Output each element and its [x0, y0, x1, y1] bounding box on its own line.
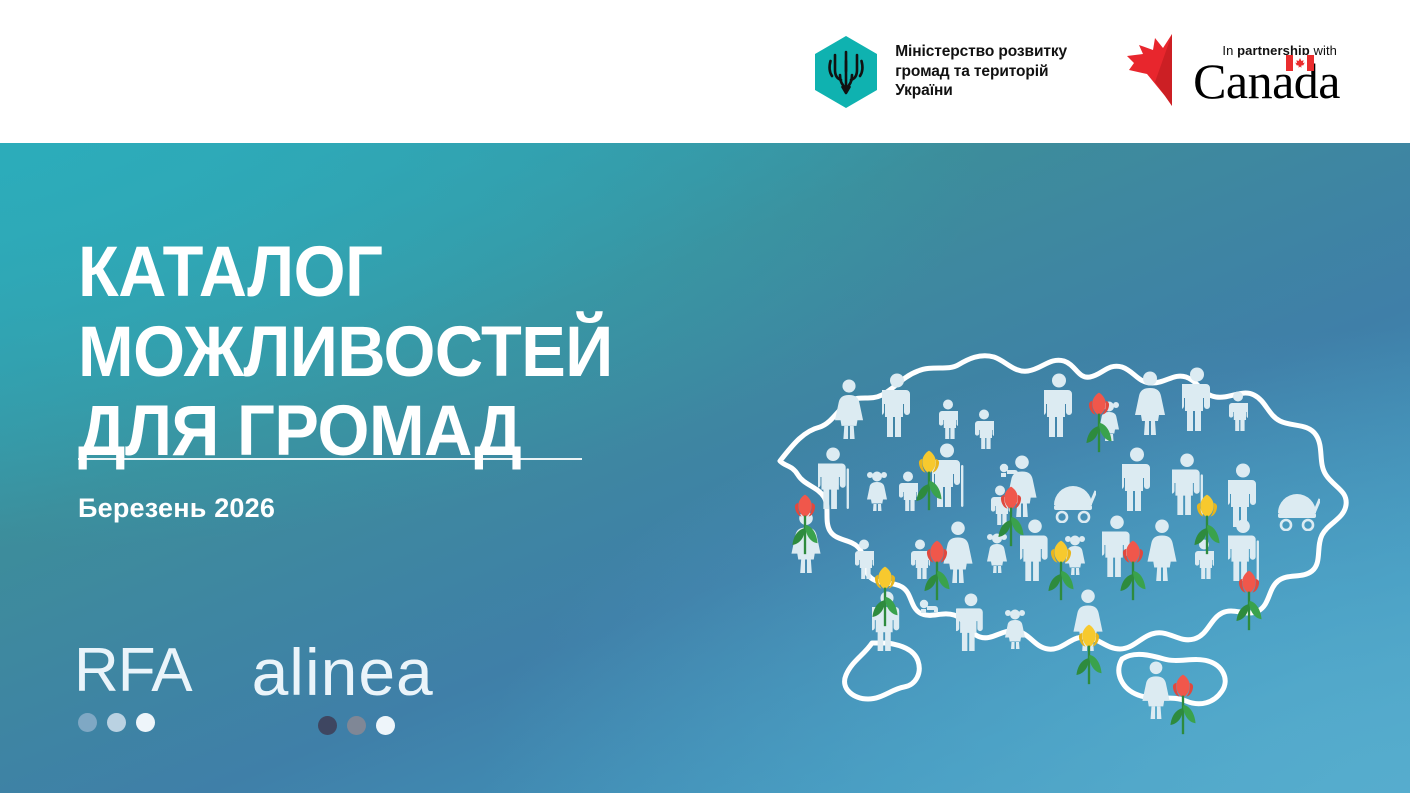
- ministry-logo: Міністерство розвитку громад та територі…: [813, 35, 1067, 109]
- map-population-figures: [791, 368, 1320, 720]
- rfa-wordmark: RFA: [74, 643, 192, 699]
- title-divider: [78, 458, 582, 460]
- canada-word-wrap: Canada: [1193, 56, 1340, 106]
- alinea-dot-1: [318, 716, 337, 735]
- header-band: Міністерство розвитку громад та територі…: [0, 0, 1410, 143]
- canada-partnership-logo: In partnership with Canada: [1125, 27, 1340, 117]
- alinea-dots: [318, 716, 434, 735]
- canada-wordmark: Canada: [1193, 56, 1340, 106]
- rfa-dot-2: [107, 713, 126, 732]
- publication-date: Березень 2026: [78, 493, 275, 524]
- ukraine-map-illustration: [742, 343, 1362, 763]
- canada-wordmark-block: In partnership with Canada: [1193, 37, 1340, 106]
- partner-logos: RFA alinea: [74, 643, 434, 735]
- maple-leaf-icon: [1125, 30, 1187, 114]
- header-logos: Міністерство розвитку громад та територі…: [813, 0, 1340, 143]
- alinea-wordmark: alinea: [252, 643, 434, 702]
- canada-flag-icon: [1286, 55, 1314, 71]
- title-slide: Міністерство розвитку громад та територі…: [0, 0, 1410, 793]
- alinea-dot-3: [376, 716, 395, 735]
- rfa-dots: [78, 713, 192, 732]
- alinea-logo: alinea: [252, 643, 434, 735]
- hero-stage: Каталог можливостей для громад Березень …: [0, 143, 1410, 793]
- rfa-logo: RFA: [74, 643, 192, 732]
- rfa-dot-1: [78, 713, 97, 732]
- ministry-name: Міністерство розвитку громад та територі…: [895, 42, 1067, 101]
- ukraine-trident-hexagon-icon: [813, 35, 879, 109]
- rfa-dot-3: [136, 713, 155, 732]
- alinea-dot-2: [347, 716, 366, 735]
